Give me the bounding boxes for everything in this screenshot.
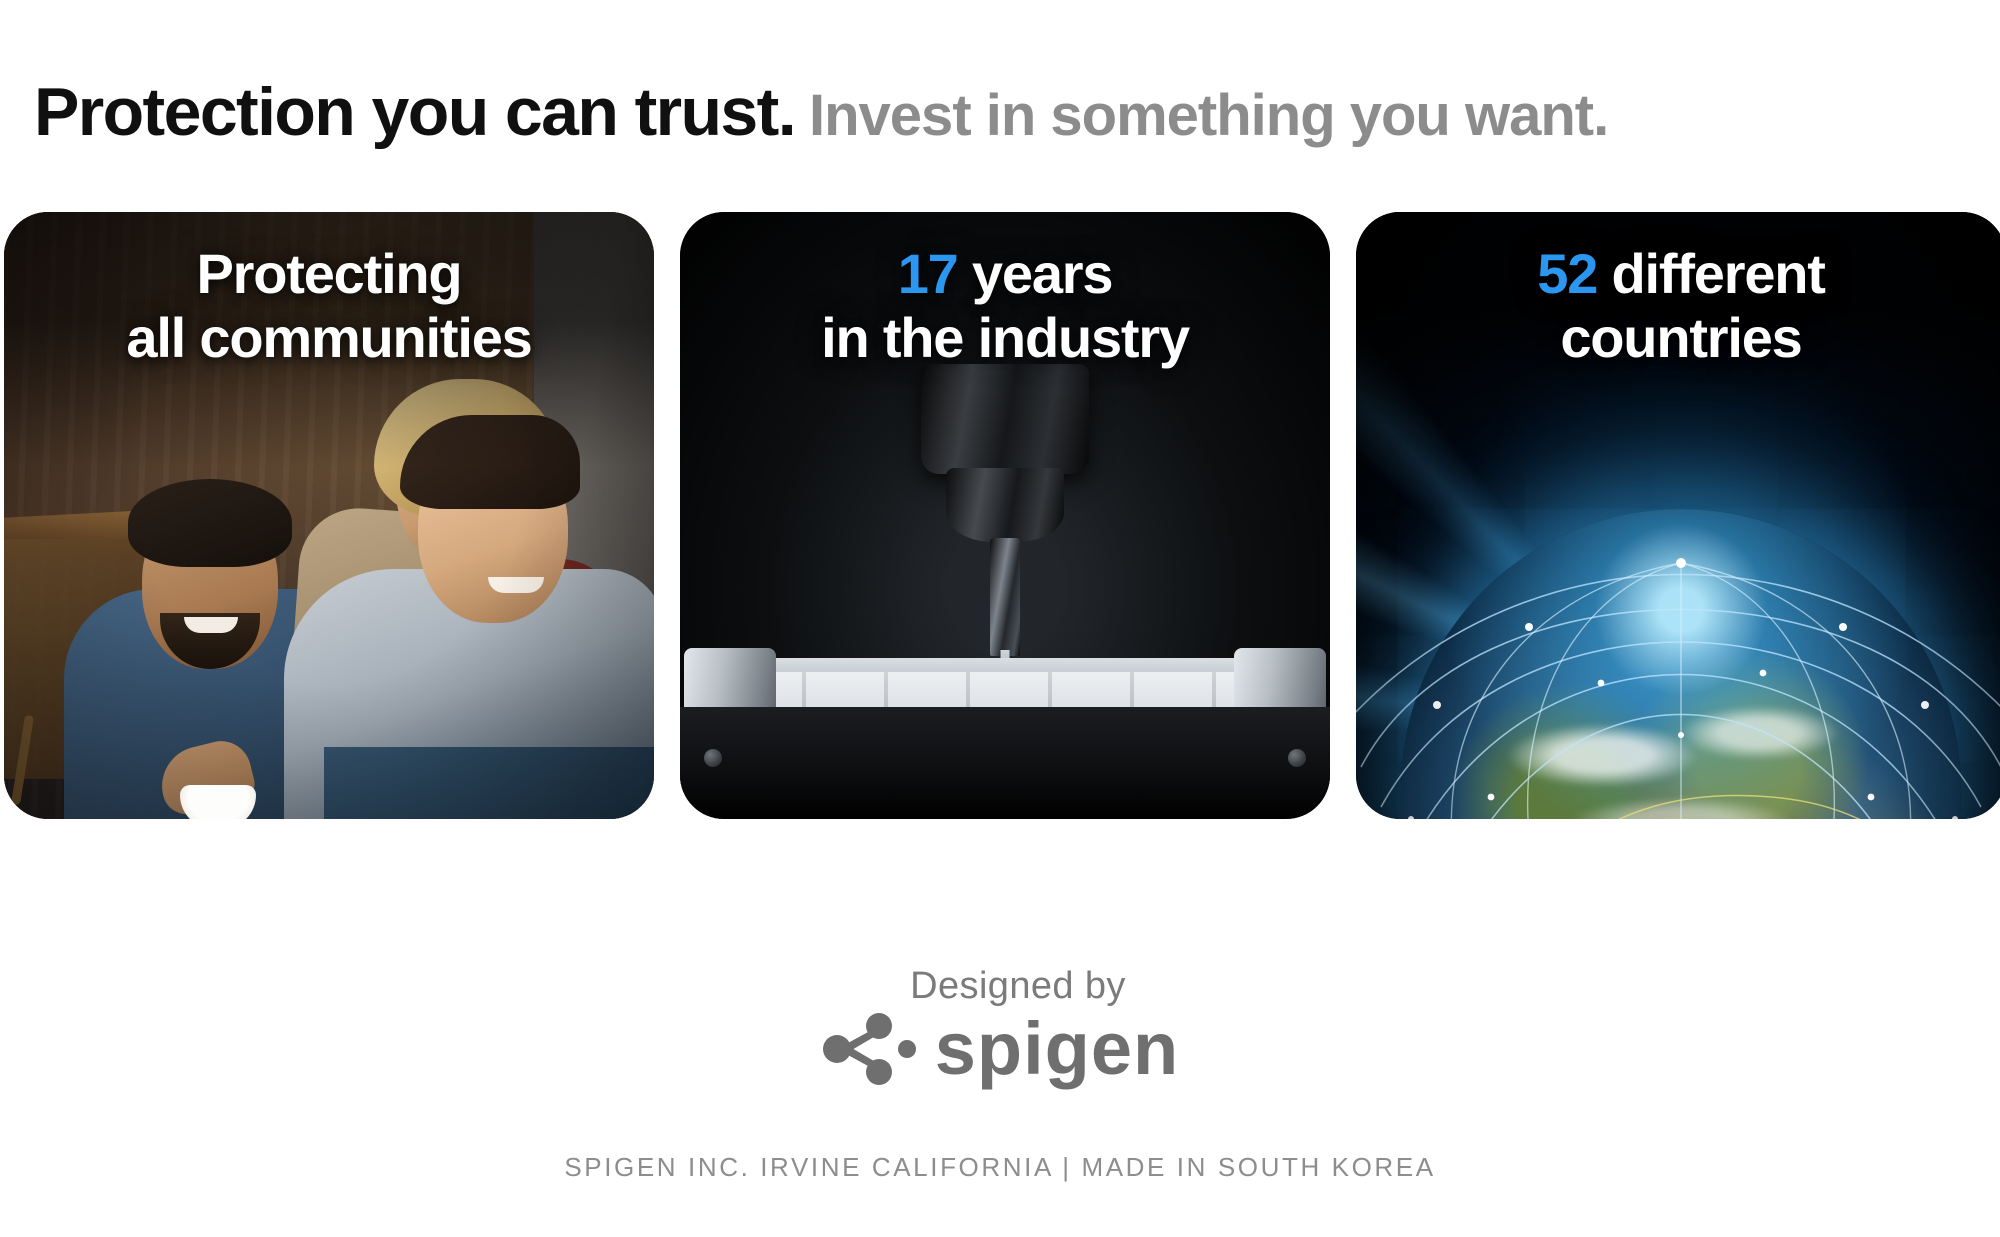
spigen-lockup: spigen <box>821 1012 1179 1086</box>
spigen-molecule-icon <box>821 1012 917 1086</box>
card-caption-1-line2: all communities <box>20 306 638 370</box>
card-caption-1: Protecting all communities <box>4 242 654 370</box>
feature-card-protecting-all-communities[interactable]: Protecting all communities <box>4 212 654 819</box>
coffee-cup <box>180 785 256 819</box>
feature-card-17-years-in-the-industry[interactable]: 17 years in the industry <box>680 212 1330 819</box>
card-caption-3: 52 different countries <box>1356 242 2000 370</box>
card-caption-2-line2: in the industry <box>696 306 1314 370</box>
card-caption-3-line2: countries <box>1372 306 1990 370</box>
footer-legal-text: SPIGEN INC. IRVINE CALIFORNIA | MADE IN … <box>0 1152 2000 1183</box>
spigen-wordmark: spigen <box>935 1012 1179 1086</box>
cnc-base <box>680 707 1330 819</box>
brand-block: Designed by spigen <box>0 965 2000 1086</box>
feature-card-52-different-countries[interactable]: 52 different countries <box>1356 212 2000 819</box>
card-caption-2: 17 years in the industry <box>680 242 1330 370</box>
cnc-bolt-left <box>704 749 722 767</box>
card-3-number: 52 <box>1537 242 1597 305</box>
headline-primary: Protection you can trust. <box>34 74 795 150</box>
feature-card-row: Protecting all communities 17 years in t… <box>4 212 1996 819</box>
headline-secondary: Invest in something you want. <box>809 83 1608 148</box>
card-caption-2-line1: 17 years <box>696 242 1314 306</box>
cnc-spindle <box>921 364 1089 474</box>
card-2-number-suffix: years <box>958 242 1113 305</box>
cnc-drill-bit <box>990 538 1020 656</box>
page-headline: Protection you can trust.Invest in somet… <box>34 76 1994 148</box>
card-2-number: 17 <box>898 242 958 305</box>
card-caption-1-line1: Protecting <box>20 242 638 306</box>
card-caption-3-line1: 52 different <box>1372 242 1990 306</box>
cnc-bolt-right <box>1288 749 1306 767</box>
designed-by-label: Designed by <box>910 965 1126 1008</box>
card-3-number-suffix: different <box>1597 242 1825 305</box>
